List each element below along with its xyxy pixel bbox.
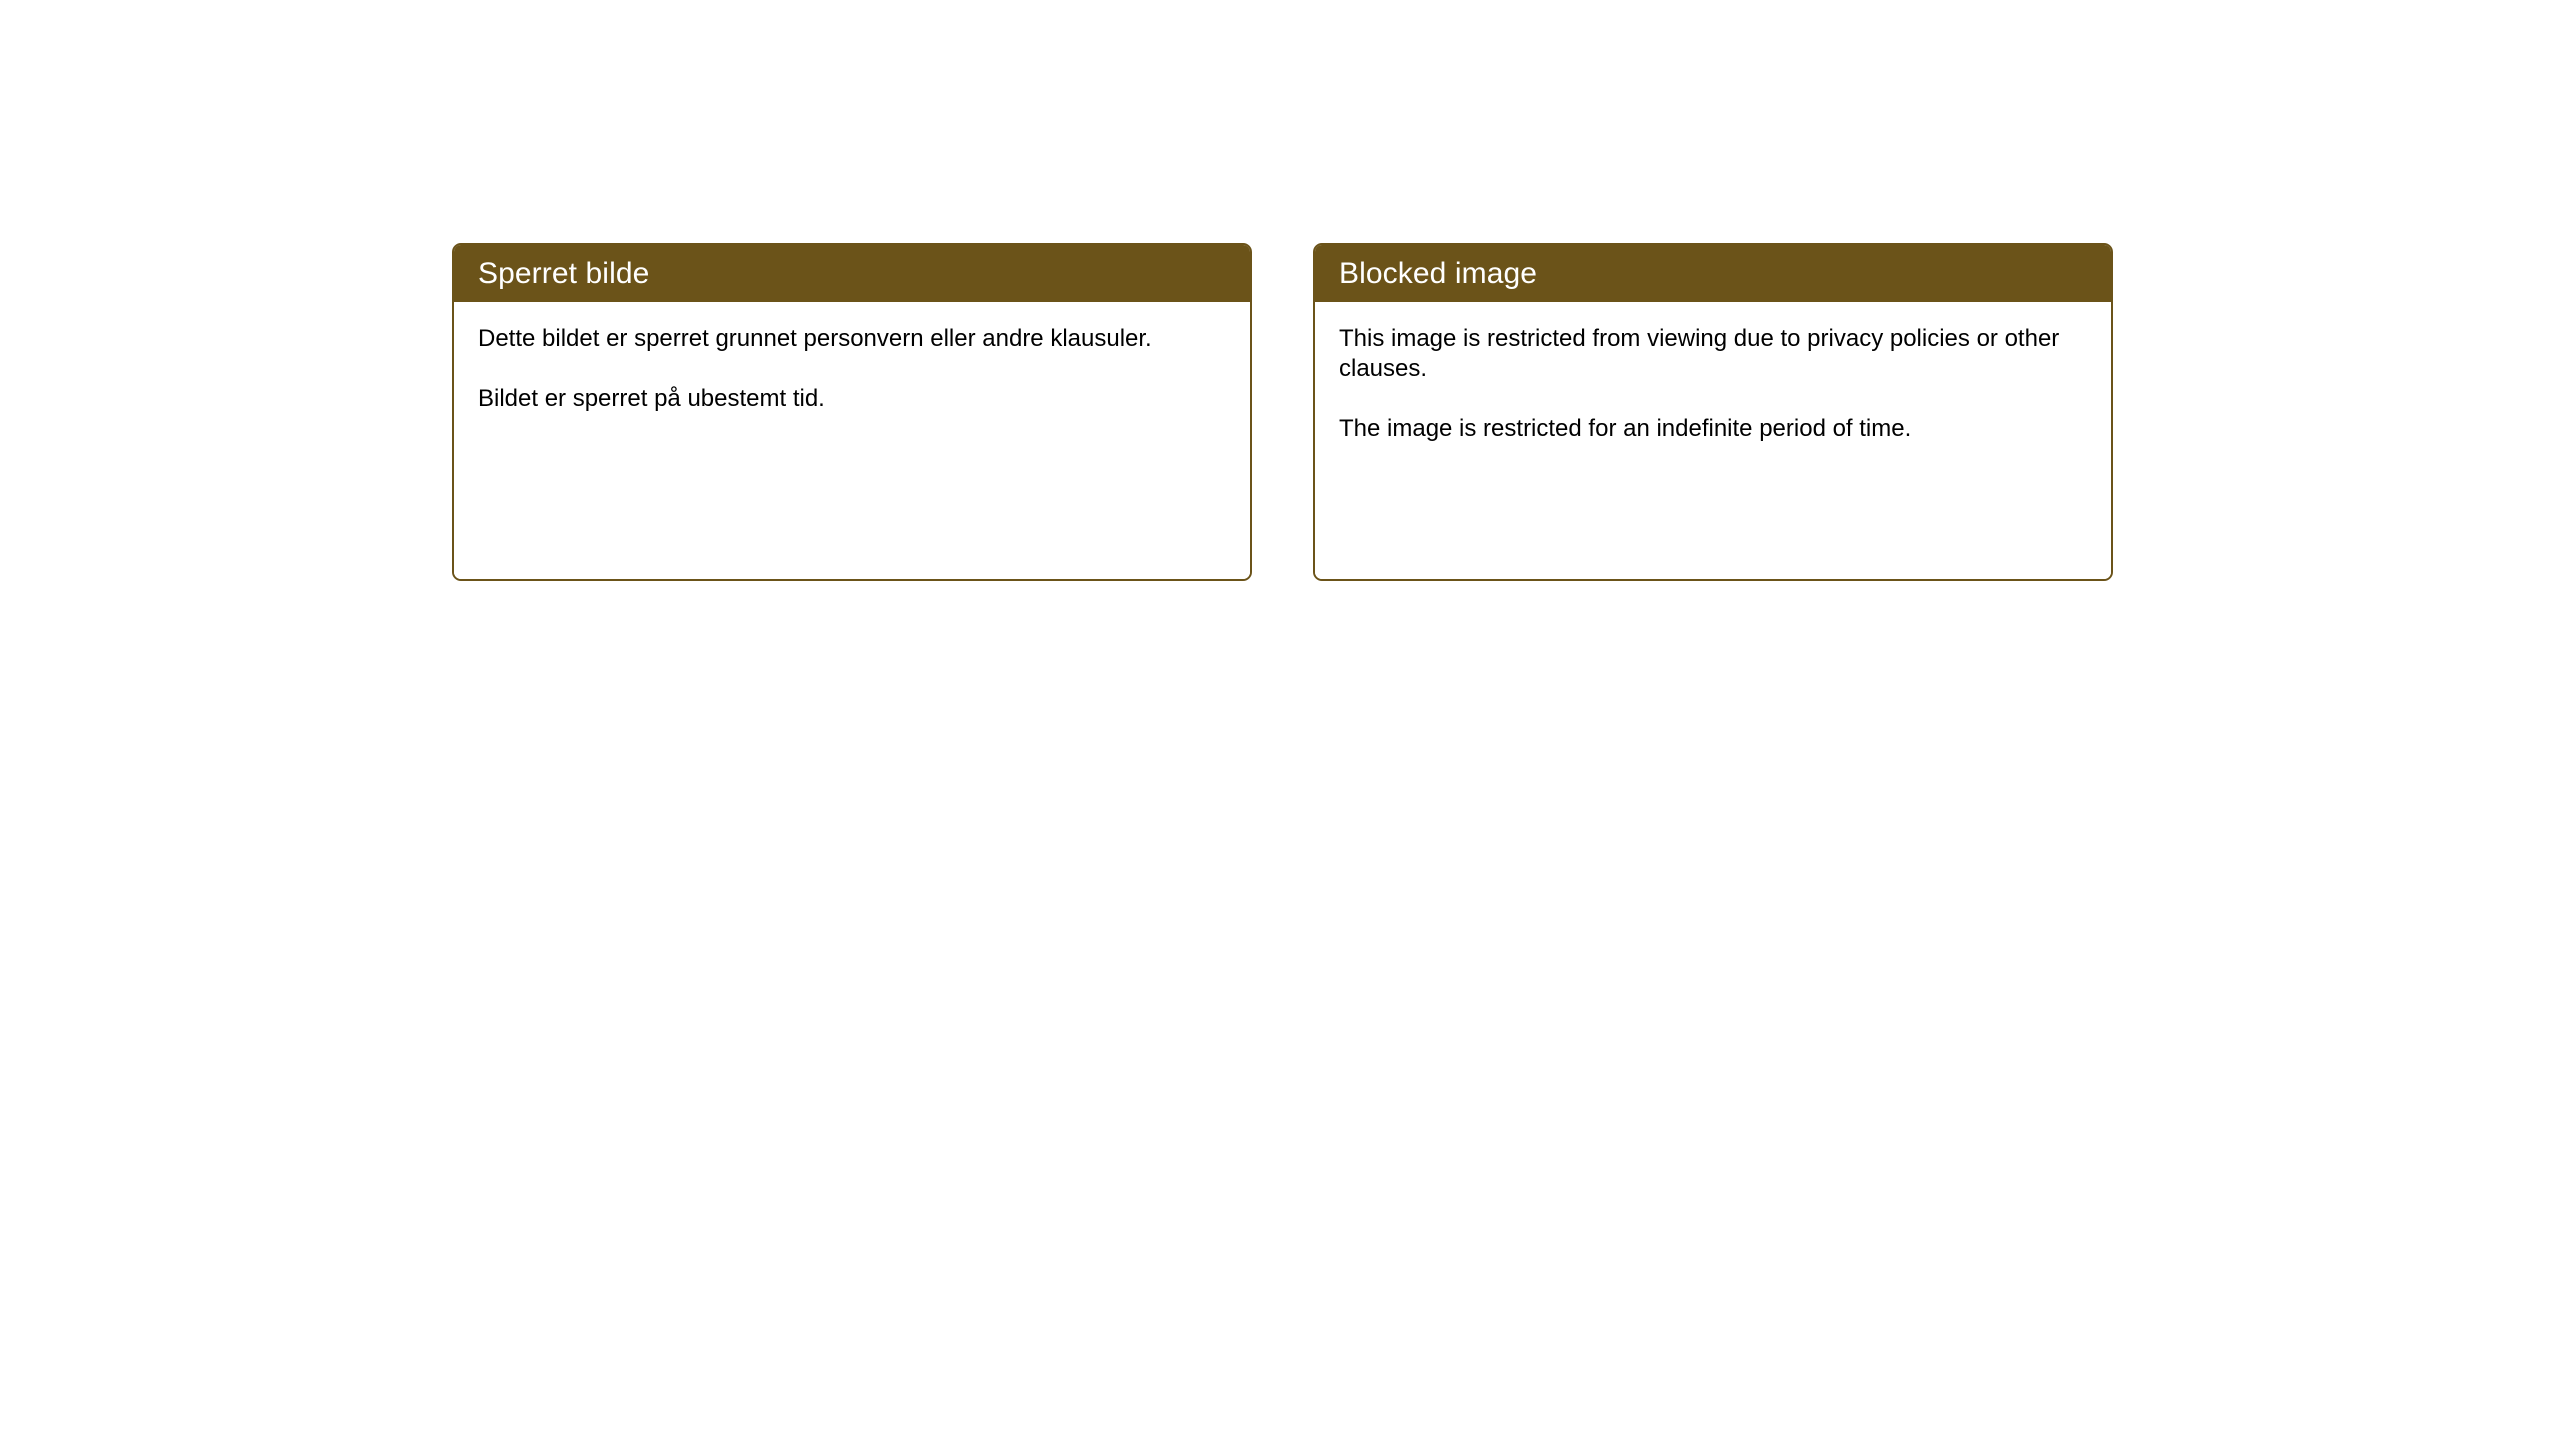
blocked-image-notice-no: Sperret bilde Dette bildet er sperret gr… <box>452 243 1252 581</box>
notice-header-en: Blocked image <box>1315 245 2111 302</box>
notice-header-no: Sperret bilde <box>454 245 1250 302</box>
notice-paragraph-duration-no: Bildet er sperret på ubestemt tid. <box>478 384 1226 414</box>
notice-title-no: Sperret bilde <box>478 257 649 291</box>
notice-body-en: This image is restricted from viewing du… <box>1315 302 2111 579</box>
notice-paragraph-reason-no: Dette bildet er sperret grunnet personve… <box>478 324 1226 354</box>
notice-body-no: Dette bildet er sperret grunnet personve… <box>454 302 1250 579</box>
notice-paragraph-duration-en: The image is restricted for an indefinit… <box>1339 414 2087 444</box>
notice-title-en: Blocked image <box>1339 257 1537 291</box>
notice-paragraph-reason-en: This image is restricted from viewing du… <box>1339 324 2087 384</box>
blocked-image-notice-en: Blocked image This image is restricted f… <box>1313 243 2113 581</box>
page-canvas: Sperret bilde Dette bildet er sperret gr… <box>0 0 2560 1440</box>
